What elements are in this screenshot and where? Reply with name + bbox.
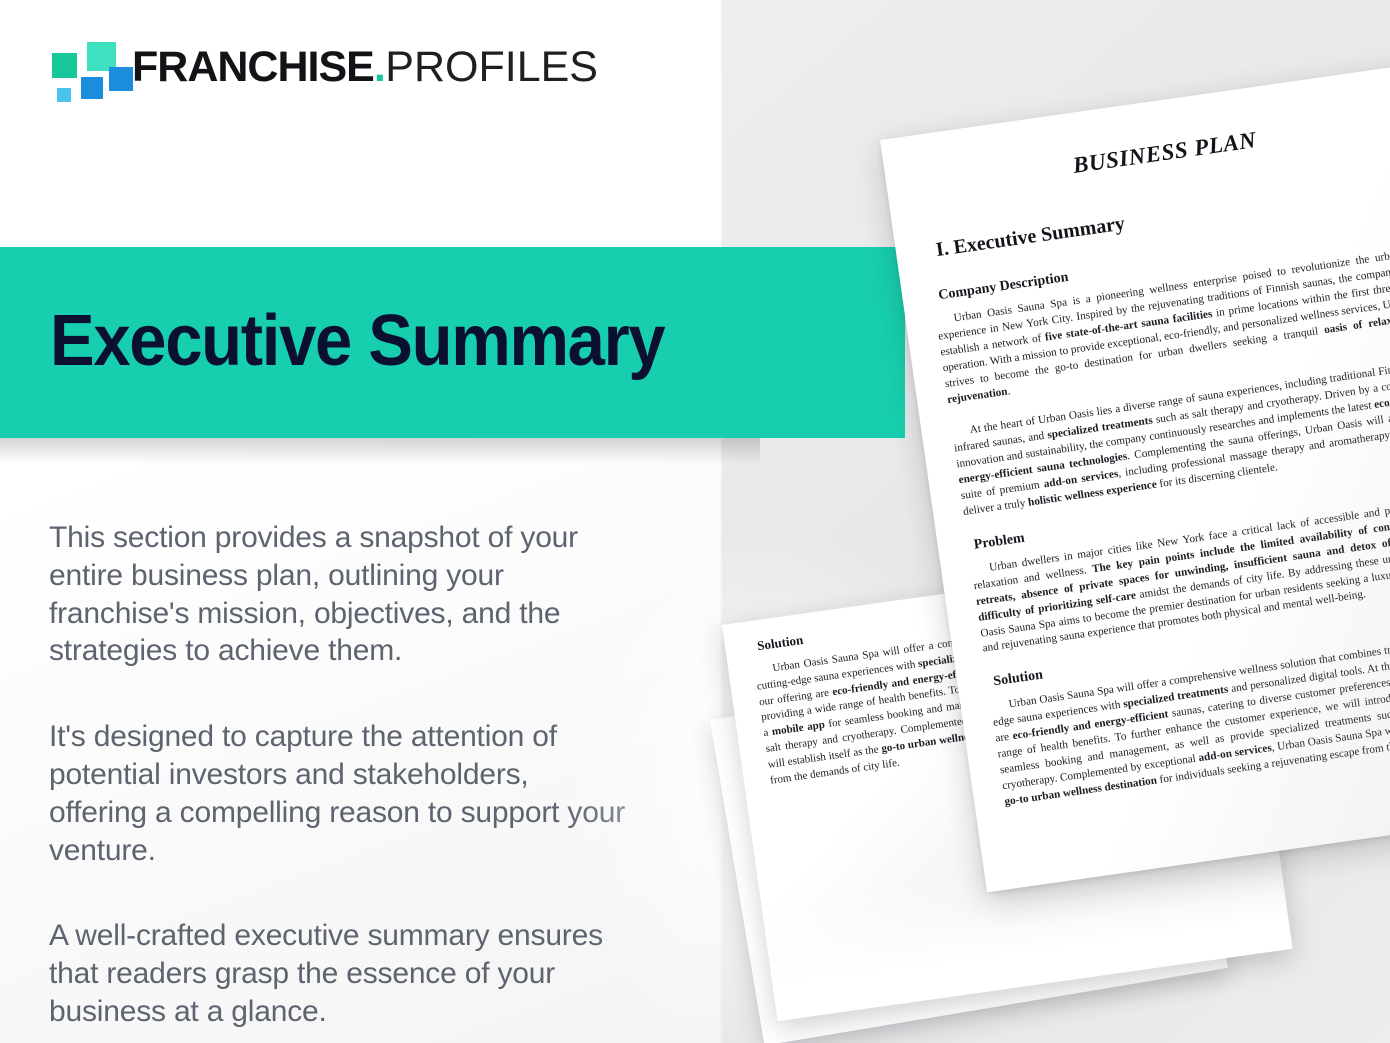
mosaic-squares-icon	[46, 41, 114, 93]
body-paragraph-2: It's designed to capture the attention o…	[49, 718, 629, 869]
body-paragraph-1: This section provides a snapshot of your…	[49, 519, 629, 670]
brand-logo[interactable]: FRANCHISE.PROFILES	[46, 41, 598, 93]
doc-subsection-company-description: Company Description Urban Oasis Sauna Sp…	[932, 219, 1390, 521]
mosaic-square-blue-small	[81, 77, 103, 99]
body-paragraph-3: A well-crafted executive summary ensures…	[49, 917, 629, 1030]
page-title: Executive Summary	[50, 300, 664, 382]
document-stack-image: Solution Urban Oasis Sauna Spa will offe…	[700, 120, 1390, 1043]
body-copy: This section provides a snapshot of your…	[49, 519, 629, 1031]
mosaic-square-green	[52, 53, 77, 78]
brand-dot: .	[374, 46, 385, 89]
mosaic-square-light-blue	[57, 88, 71, 102]
brand-name-light: PROFILES	[385, 46, 598, 89]
mosaic-square-blue	[109, 67, 133, 91]
slide-canvas: FRANCHISE.PROFILES Executive Summary Thi…	[0, 0, 1390, 1043]
brand-wordmark: FRANCHISE.PROFILES	[132, 46, 598, 89]
brand-name-bold: FRANCHISE	[132, 46, 374, 89]
